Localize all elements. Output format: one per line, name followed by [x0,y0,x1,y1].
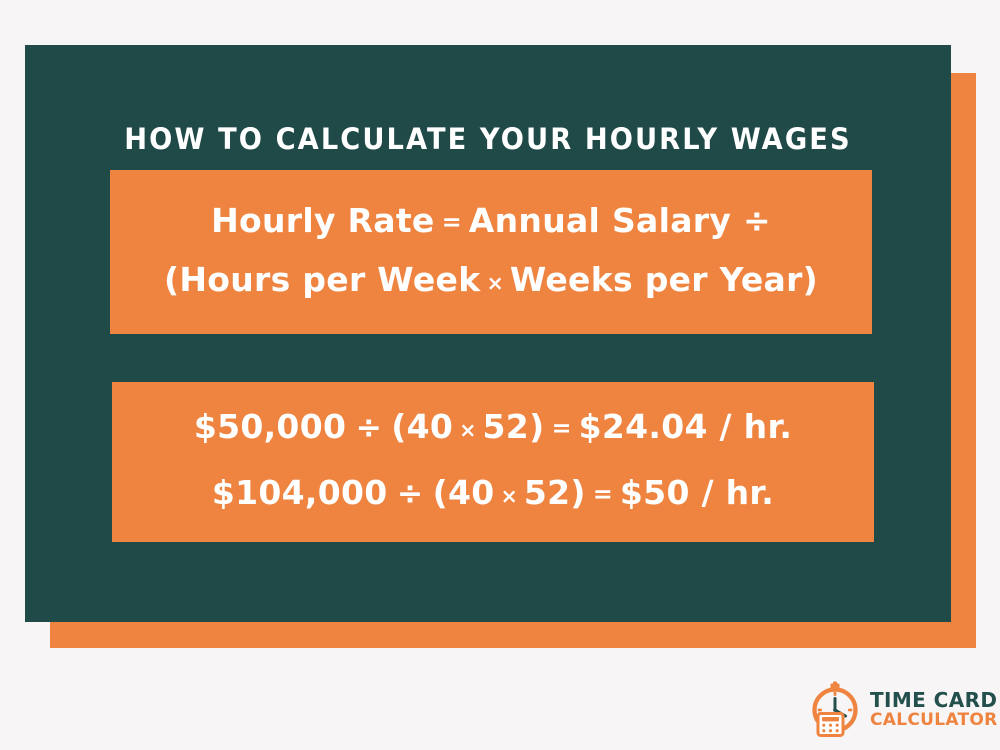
logo-line-calculator: CALCULATOR [870,712,998,729]
example-1-divide-operator: ÷ [356,410,382,446]
example-2-salary: $104,000 [212,473,388,512]
formula-line-1-part-1: Hourly Rate [211,201,435,240]
example-2-open-paren: (40 [433,473,495,512]
logo-wordmark: TIME CARD CALCULATOR [870,690,998,729]
example-2-equals-operator: = [593,480,613,508]
times-operator: × [487,271,504,295]
example-line-1: $50,000÷(40×52)=$24.04 / hr. [194,396,792,462]
formula-box: Hourly Rate=Annual Salary ÷ (Hours per W… [110,170,872,334]
main-teal-panel: HOW TO CALCULATE YOUR HOURLY WAGES Hourl… [25,45,951,622]
example-1-salary: $50,000 [194,407,346,446]
infographic-canvas: HOW TO CALCULATE YOUR HOURLY WAGES Hourl… [0,0,1000,750]
example-2-times-operator: × [501,484,518,508]
example-1-result: $24.04 / hr. [579,407,793,446]
formula-line-1-part-2: Annual Salary ÷ [469,201,771,240]
page-title: HOW TO CALCULATE YOUR HOURLY WAGES [53,119,923,159]
formula-line-1: Hourly Rate=Annual Salary ÷ [211,193,771,252]
logo-line-time-card: TIME CARD [870,690,998,710]
formula-line-2: (Hours per Week×Weeks per Year) [164,252,818,312]
formula-line-2-part-2: Weeks per Year) [510,260,818,299]
example-1-times-operator: × [459,418,476,442]
examples-box: $50,000÷(40×52)=$24.04 / hr. $104,000÷(4… [112,382,874,542]
example-2-result: $50 / hr. [620,473,774,512]
brand-logo[interactable]: TIME CARD CALCULATOR [806,678,990,740]
example-1-equals-operator: = [552,414,572,442]
example-line-2: $104,000÷(40×52)=$50 / hr. [212,462,774,528]
example-2-close-paren: 52) [524,473,586,512]
example-2-divide-operator: ÷ [397,476,423,512]
example-1-open-paren: (40 [391,407,453,446]
example-1-close-paren: 52) [483,407,545,446]
stopwatch-calculator-icon [806,680,864,738]
equals-operator: = [442,208,462,236]
formula-line-2-part-1: (Hours per Week [164,260,480,299]
